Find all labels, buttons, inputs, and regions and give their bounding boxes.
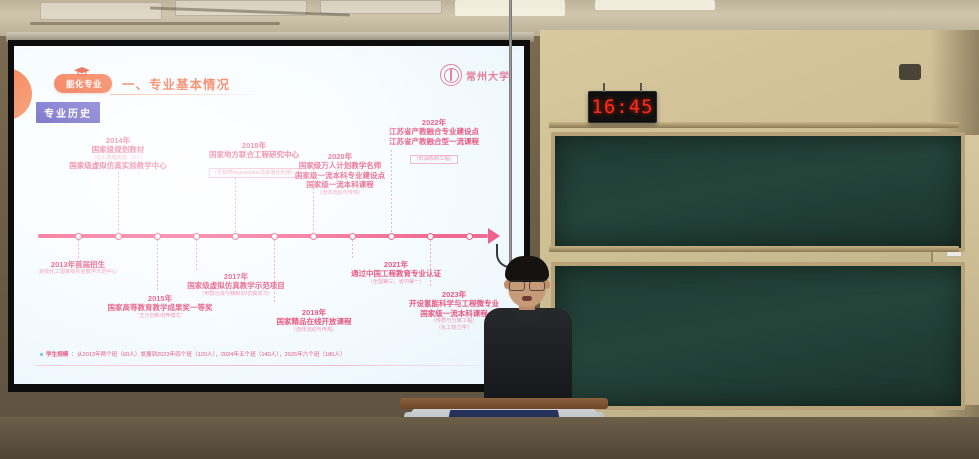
clock-mount: [640, 83, 642, 92]
bullet-icon: [40, 353, 43, 356]
timeline-node: [349, 233, 356, 240]
university-seal-icon: [440, 64, 462, 86]
digital-wall-clock: 16:45: [588, 91, 657, 123]
clock-mount: [603, 83, 605, 92]
timeline-stem: [196, 240, 197, 270]
timeline-item: 2017年 国家级虚拟仿真教学示范项目 （甲醇合成与精制3D仿真实习）: [187, 272, 285, 297]
ceiling-panel: [40, 2, 162, 20]
presentation-slide: 能化专业 一、专业基本情况 专业历史 常州大学: [14, 46, 524, 384]
timeline-line: 国家精品在线开放课程: [277, 317, 352, 326]
timeline-arrow-icon: [488, 228, 500, 244]
timeline-line: 国家高等教育教学成果奖一等奖: [108, 303, 213, 312]
timeline-item: 2015年 国家高等教育教学成果奖一等奖 "五元创新培养模式": [108, 294, 213, 319]
footer-underline: [36, 365, 516, 366]
timeline-stem: [352, 240, 353, 258]
timeline-sub: （流体流动与传热）: [277, 327, 352, 334]
clock-time-display: 16:45: [591, 96, 653, 118]
timeline-node: [154, 233, 161, 240]
timeline-year: 2022年: [389, 118, 479, 127]
glasses-icon: [508, 280, 546, 289]
timeline-sub: （全国第三，省内第一）: [351, 279, 441, 286]
university-logo: 常州大学: [440, 64, 510, 86]
timeline-line: 国家级规划教材: [69, 145, 167, 154]
timeline-stem: [235, 178, 236, 234]
timeline-item: 2022年 江苏省产教融合专业建设点 江苏省产教融合型一流课程 （石油炼制工程）: [389, 118, 479, 166]
timeline-node: [427, 233, 434, 240]
ceiling-pipe: [30, 22, 280, 25]
timeline-node: [193, 233, 200, 240]
timeline-year: 2014年: [69, 136, 167, 145]
timeline-item: 2021年 通过中国工程教育专业认证 （全国第三，省内第一）: [351, 260, 441, 285]
timeline-item: 2020年 国家级万人计划教学名师 国家级一流本科专业建设点 国家级一流本科课程…: [295, 152, 385, 196]
note-label: 学生规模: [46, 350, 68, 358]
timeline-line: 国家级虚拟仿真实验教学中心: [69, 161, 167, 170]
slide-footer-note: 学生规模 ：从2013年两个班（60人）发展到2023年四个班（120人），20…: [40, 350, 346, 358]
timeline-line: 江苏省产教融合型一流课程: [389, 137, 479, 146]
presenter-mouth: [522, 296, 532, 301]
slide-header: 能化专业 一、专业基本情况: [54, 74, 230, 93]
presenter-hair: [505, 256, 549, 282]
timeline-sub: 获批化工国家级实验教学示范中心: [39, 269, 117, 276]
timeline-stem: [118, 168, 119, 234]
timeline-sub: （流体流动与传热）: [295, 190, 385, 197]
lectern-top: [400, 398, 608, 409]
lecture-hall-scene: 16:45 能化专业 一、专业基本情况 专业历史 常州大学: [0, 0, 979, 459]
timeline-year: 2017年: [187, 272, 285, 281]
university-name: 常州大学: [466, 68, 510, 83]
screen-glare: [14, 46, 524, 384]
section-chip: 专业历史: [36, 102, 100, 123]
timeline-item: 2014年 国家级规划教材 （化工原理实验（三）） 国家级虚拟仿真实验教学中心: [69, 136, 167, 171]
header-underline: [110, 94, 260, 95]
chalk-ledge: [549, 246, 959, 252]
timeline-year: 2020年: [295, 152, 385, 161]
timeline-node: [75, 233, 82, 240]
timeline-item: 2018年 国家地方联合工程研究中心 （生物质degradation及高值化利用…: [209, 141, 299, 180]
timeline-line: 国家级虚拟仿真教学示范项目: [187, 281, 285, 290]
overhead-light: [595, 0, 715, 10]
timeline-stem: [157, 240, 158, 292]
timeline-node: [271, 233, 278, 240]
microphone-stand: [509, 0, 512, 262]
timeline-sub: "五元创新培养模式": [108, 313, 213, 320]
timeline-item: 2019年 国家精品在线开放课程 （流体流动与传热）: [277, 308, 352, 333]
timeline-year: 2018年: [209, 141, 299, 150]
floor: [0, 417, 979, 459]
timeline-year: 2013年首届招生: [39, 260, 117, 269]
timeline-sub: （生物质degradation及高值化利用）: [209, 168, 299, 178]
timeline-line: 通过中国工程教育专业认证: [351, 269, 441, 278]
timeline-node: [466, 233, 473, 240]
timeline-line: 国家级一流本科课程: [295, 180, 385, 189]
wall-speaker: [899, 64, 921, 80]
blackboard-lower: [551, 262, 965, 410]
timeline-year: 2019年: [277, 308, 352, 317]
projector-screen: 能化专业 一、专业基本情况 专业历史 常州大学: [8, 40, 530, 392]
blackboard-upper: [551, 132, 965, 252]
slide-title: 一、专业基本情况: [122, 74, 230, 93]
timeline-line: 江苏省产教融合专业建设点: [389, 127, 479, 136]
slide-badge: 能化专业: [54, 74, 112, 93]
graduation-cap-icon: [74, 67, 90, 76]
timeline-line: 国家地方联合工程研究中心: [209, 150, 299, 159]
timeline-year: 2021年: [351, 260, 441, 269]
note-text: ：从2013年两个班（60人）发展到2023年四个班（120人），2024年五个…: [71, 350, 345, 358]
timeline-axis: [38, 234, 488, 238]
timeline-line: 国家级一流本科专业建设点: [295, 171, 385, 180]
timeline-sub: （甲醇合成与精制3D仿真实习）: [187, 291, 285, 298]
timeline-sub: （石油炼制工程）: [410, 155, 458, 165]
timeline-item: 2013年首届招生 获批化工国家级实验教学示范中心: [39, 260, 117, 276]
timeline-line: 国家级万人计划教学名师: [295, 161, 385, 170]
timeline-stem: [78, 240, 79, 260]
decorative-wedge: [14, 68, 32, 120]
ceiling-panel: [320, 0, 442, 14]
